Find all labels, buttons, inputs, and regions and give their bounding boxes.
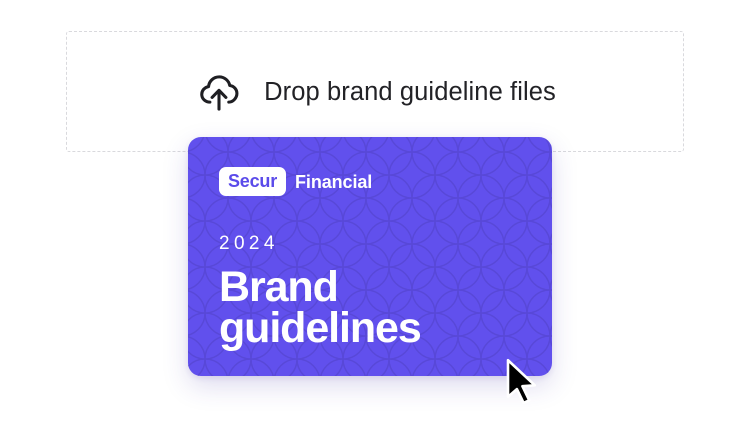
card-title-line-2: guidelines — [219, 308, 552, 349]
screenshot-stage: Drop brand guideline files — [0, 0, 750, 423]
brand-logo: Secur Financial — [219, 167, 552, 196]
dropzone-label: Drop brand guideline files — [264, 80, 556, 106]
logo-badge: Secur — [219, 167, 286, 196]
brand-guidelines-card[interactable]: Secur Financial 2024 Brand guidelines — [188, 137, 552, 376]
dropzone-content: Drop brand guideline files — [67, 32, 685, 153]
card-year: 2024 — [219, 234, 552, 253]
cloud-upload-icon — [196, 70, 242, 116]
card-title-line-1: Brand — [219, 267, 552, 308]
file-dropzone[interactable]: Drop brand guideline files — [66, 31, 684, 152]
logo-wordmark: Financial — [295, 173, 372, 191]
card-content: Secur Financial 2024 Brand guidelines — [188, 137, 552, 376]
card-title: Brand guidelines — [219, 267, 552, 349]
